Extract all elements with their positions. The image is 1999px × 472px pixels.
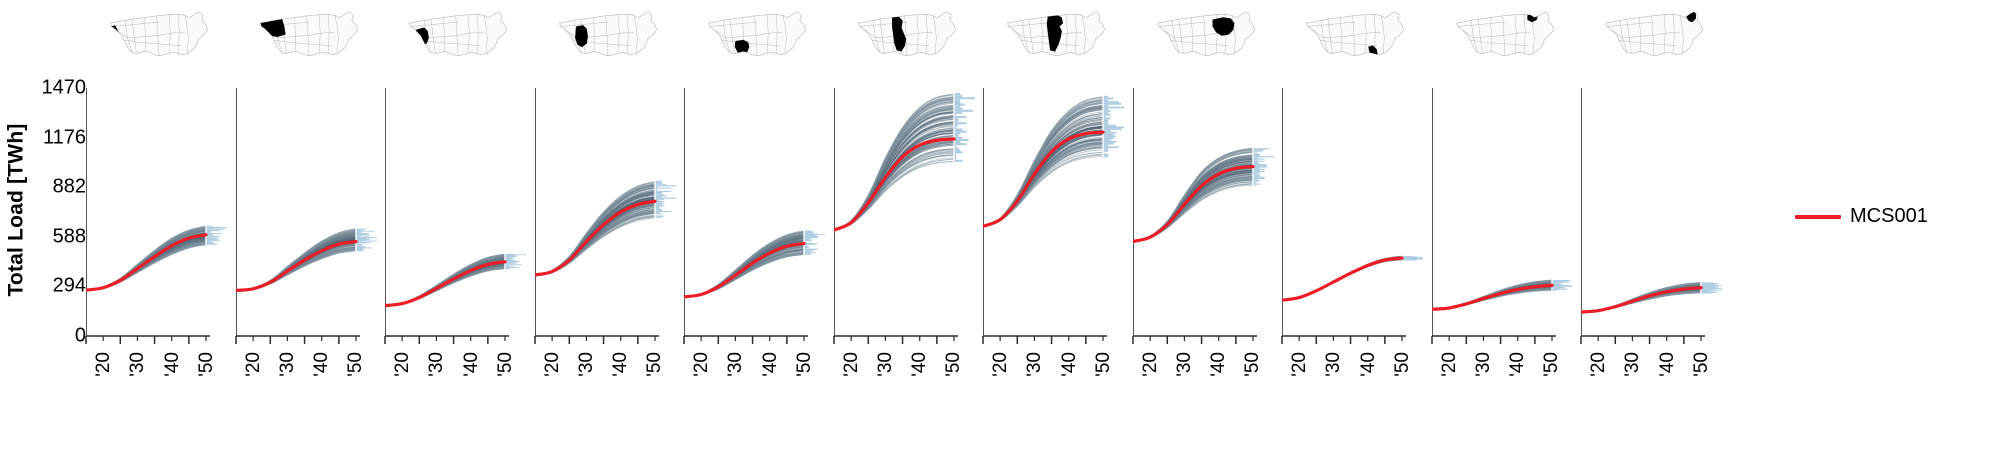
x-axis-nyiso <box>1432 336 1578 350</box>
y-tick-label: 294 <box>53 275 86 298</box>
x-tick-label: '30 <box>1323 352 1345 377</box>
mc-trajectory-fan <box>236 229 356 291</box>
histogram-bar <box>1253 179 1258 180</box>
mcs001-trajectory <box>1282 258 1402 300</box>
x-tick-label: '50 <box>1093 352 1115 377</box>
histogram-bar <box>655 211 671 212</box>
x-tick-label: '20 <box>392 352 414 377</box>
histogram-bar <box>954 97 975 99</box>
histogram-bar <box>1253 155 1260 156</box>
x-tick-label: '50 <box>495 352 517 377</box>
x-tick-label: '20 <box>542 352 564 377</box>
plot-area-pjm <box>1133 88 1279 336</box>
histogram-bar <box>1253 164 1267 165</box>
x-axis-wecc-basin <box>385 336 531 350</box>
histogram-bar <box>1253 176 1260 177</box>
mc-trajectory <box>684 254 804 297</box>
histogram-bar <box>954 149 960 151</box>
plot-area-frcc <box>1282 88 1428 336</box>
histogram-bar <box>1103 150 1108 152</box>
mc-trajectory <box>86 244 206 290</box>
mc-trajectory <box>684 255 804 297</box>
histogram-bar <box>1103 134 1114 136</box>
x-axis-ercot <box>684 336 830 350</box>
us-map-outline <box>1307 12 1404 56</box>
x-axis-tick-labels: '20'30'40'50 <box>1133 352 1279 412</box>
terminal-histogram <box>804 230 825 256</box>
mc-trajectory <box>1282 259 1402 300</box>
histogram-bar <box>1103 110 1111 112</box>
histogram-bar <box>655 217 662 218</box>
panel-spp: '20'30'40'50 <box>834 0 980 472</box>
x-tick-label: '20 <box>93 352 115 377</box>
x-tick-label: '50 <box>345 352 367 377</box>
mc-trajectory <box>1282 259 1402 301</box>
us-map-outline <box>1456 12 1553 56</box>
mc-trajectory <box>1282 259 1402 300</box>
histogram-bar <box>954 108 962 110</box>
histogram-bar <box>1103 155 1108 157</box>
histogram-bar <box>1103 126 1124 128</box>
x-tick-label: '50 <box>1242 352 1264 377</box>
x-axis-tick-labels: '20'30'40'50 <box>86 352 232 412</box>
histogram-bar <box>655 210 662 211</box>
x-tick-label: '30 <box>1473 352 1495 377</box>
histogram-bar <box>655 188 671 189</box>
histogram-bar <box>1103 107 1124 109</box>
histogram-bar <box>655 185 676 186</box>
map-inset-frcc <box>1282 4 1428 66</box>
mc-trajectory <box>385 266 505 305</box>
mc-trajectory <box>1282 259 1402 300</box>
histogram-bar <box>655 193 662 194</box>
mc-trajectory <box>1282 259 1402 300</box>
histogram-bar <box>1103 139 1111 141</box>
y-tick-label: 882 <box>53 176 86 199</box>
x-axis-nwpp <box>236 336 382 350</box>
panel-ercot: '20'30'40'50 <box>684 0 830 472</box>
mc-trajectory <box>1282 259 1402 300</box>
y-tick-label: 0 <box>75 325 86 348</box>
x-tick-label: '40 <box>311 352 333 377</box>
legend-label-mcs001: MCS001 <box>1850 205 1928 228</box>
histogram-bar <box>1253 177 1265 178</box>
x-tick-label: '50 <box>1392 352 1414 377</box>
mc-trajectory <box>1282 259 1402 300</box>
terminal-histogram <box>206 225 227 246</box>
histogram-bar <box>954 93 960 95</box>
histogram-bar <box>1103 119 1108 121</box>
mc-trajectory <box>1282 259 1402 301</box>
map-inset-nwpp <box>236 4 382 66</box>
histogram-bar <box>655 199 664 200</box>
histogram-bar <box>1253 171 1265 172</box>
histogram-bar <box>1103 98 1114 100</box>
mc-trajectory <box>834 150 954 230</box>
histogram-bar <box>1103 143 1114 145</box>
mc-trajectory <box>1282 259 1402 300</box>
histogram-bar <box>655 191 671 192</box>
histogram-bar <box>804 230 811 231</box>
mc-trajectory <box>1282 259 1402 300</box>
x-tick-label: '50 <box>1541 352 1563 377</box>
terminal-histogram <box>1253 147 1274 186</box>
panel-wecc-basin: '20'30'40'50 <box>385 0 531 472</box>
histogram-bar <box>1103 105 1108 107</box>
us-map-highlight-wecc-sw <box>575 25 587 46</box>
plot-area-ercot <box>684 88 830 336</box>
histogram-bar <box>1103 128 1121 130</box>
x-axis-miso <box>983 336 1129 350</box>
x-axis-wecc-sw <box>535 336 681 350</box>
terminal-histogram <box>356 228 377 252</box>
histogram-bar <box>954 95 962 97</box>
histogram-bar <box>655 181 662 182</box>
us-map-outline <box>1157 12 1254 56</box>
histogram-bar <box>954 131 967 133</box>
mc-trajectory <box>1282 259 1402 300</box>
plot-area-miso <box>983 88 1129 336</box>
map-inset-nyiso <box>1432 4 1578 66</box>
x-axis-tick-labels: '20'30'40'50 <box>684 352 830 412</box>
plot-area-nwpp <box>236 88 382 336</box>
figure-root: Total Load [TWh] 029458888211761470 '20'… <box>0 0 1999 472</box>
mc-trajectory <box>236 250 356 290</box>
mc-trajectory <box>1282 259 1402 300</box>
plot-area-nyiso <box>1432 88 1578 336</box>
histogram-bar <box>505 254 513 255</box>
histogram-bar <box>655 194 664 195</box>
histogram-bar <box>954 99 960 101</box>
x-tick-label: '40 <box>760 352 782 377</box>
x-tick-label: '30 <box>426 352 448 377</box>
histogram-bar <box>1253 154 1260 155</box>
mc-trajectory <box>1282 259 1402 300</box>
terminal-histogram <box>655 181 676 219</box>
histogram-bar <box>1103 145 1108 147</box>
mc-trajectory-fan <box>86 226 206 290</box>
x-tick-label: '30 <box>576 352 598 377</box>
x-tick-label: '20 <box>841 352 863 377</box>
x-tick-label: '50 <box>943 352 965 377</box>
histogram-bar <box>655 195 667 196</box>
mc-trajectory <box>1282 260 1402 301</box>
x-tick-label: '40 <box>461 352 483 377</box>
mc-trajectory <box>1282 260 1402 301</box>
mc-trajectory <box>1282 259 1402 300</box>
x-axis-pjm <box>1133 336 1279 350</box>
histogram-bar <box>1253 166 1267 167</box>
mc-trajectory <box>1282 259 1402 301</box>
mc-trajectory-fan <box>535 181 655 274</box>
mc-trajectory <box>684 254 804 297</box>
histogram-bar <box>1103 148 1108 150</box>
histogram-bar <box>1103 114 1111 116</box>
plot-area-wecc-sw <box>535 88 681 336</box>
mc-trajectory <box>1282 259 1402 300</box>
histogram-bar <box>1103 146 1119 148</box>
histogram-bar <box>954 143 967 145</box>
us-map-outline <box>709 12 806 56</box>
map-inset-miso <box>983 4 1129 66</box>
histogram-bar <box>954 139 969 141</box>
histogram-bar <box>655 208 660 209</box>
histogram-bar <box>1103 137 1114 139</box>
panel-miso: '20'30'40'50 <box>983 0 1129 472</box>
histogram-bar <box>954 160 962 162</box>
x-tick-label: '40 <box>610 352 632 377</box>
histogram-bar <box>1253 165 1267 166</box>
mc-trajectory-fan <box>385 254 505 306</box>
x-tick-label: '30 <box>725 352 747 377</box>
histogram-bar <box>1253 174 1260 175</box>
legend: MCS001 <box>1795 205 1928 228</box>
x-axis-tick-labels: '20'30'40'50 <box>1282 352 1428 412</box>
histogram-bar <box>1552 280 1570 281</box>
us-map-highlight-wecc-basin <box>416 28 428 45</box>
histogram-bar <box>655 213 662 214</box>
histogram-bar <box>1253 169 1265 170</box>
histogram-bar <box>1103 108 1108 110</box>
mc-trajectory <box>1282 259 1402 301</box>
terminal-histogram <box>1402 256 1423 261</box>
x-tick-label: '40 <box>162 352 184 377</box>
histogram-bar <box>655 183 662 184</box>
x-tick-label: '40 <box>1657 352 1679 377</box>
histogram-bar <box>655 198 676 199</box>
y-tick-label: 1176 <box>43 126 86 149</box>
plot-area-caiso <box>86 88 232 336</box>
histogram-bar <box>954 141 960 143</box>
terminal-histogram <box>954 93 975 164</box>
x-tick-label: '50 <box>196 352 218 377</box>
x-tick-label: '40 <box>909 352 931 377</box>
histogram-bar <box>1253 148 1269 149</box>
us-map-highlight-nwpp <box>260 19 285 36</box>
mc-trajectory <box>1282 259 1402 300</box>
mc-trajectory <box>1282 260 1402 301</box>
mc-trajectory <box>1282 259 1402 300</box>
histogram-bar <box>1253 149 1265 150</box>
mc-trajectory <box>1282 259 1402 301</box>
histogram-bar <box>1253 158 1265 159</box>
histogram-bar <box>1253 172 1260 173</box>
panel-nwpp: '20'30'40'50 <box>236 0 382 472</box>
x-tick-label: '30 <box>875 352 897 377</box>
mc-trajectory <box>1282 259 1402 301</box>
histogram-bar <box>1402 256 1411 257</box>
terminal-histogram <box>1103 96 1124 157</box>
histogram-bar <box>954 106 960 108</box>
x-tick-label: '20 <box>990 352 1012 377</box>
x-axis-tick-labels: '20'30'40'50 <box>385 352 531 412</box>
y-axis-title: Total Load [TWh] <box>2 80 32 340</box>
histogram-bar <box>954 122 967 124</box>
mc-trajectory-fan <box>834 94 954 230</box>
map-inset-wecc-sw <box>535 4 681 66</box>
histogram-bar <box>954 128 962 130</box>
panel-pjm: '20'30'40'50 <box>1133 0 1279 472</box>
histogram-bar <box>1253 184 1260 185</box>
x-axis-spp <box>834 336 980 350</box>
x-axis-frcc <box>1282 336 1428 350</box>
x-tick-label: '40 <box>1208 352 1230 377</box>
x-tick-label: '30 <box>127 352 149 377</box>
y-tick-label: 1470 <box>42 77 87 100</box>
x-tick-label: '30 <box>1174 352 1196 377</box>
histogram-bar <box>954 103 965 105</box>
histogram-bar <box>1253 173 1258 174</box>
histogram-bar <box>206 226 213 227</box>
mc-trajectory <box>1282 260 1402 301</box>
mc-trajectory <box>1282 259 1402 300</box>
histogram-bar <box>1253 157 1258 158</box>
mc-trajectory <box>1282 259 1402 300</box>
mc-trajectory <box>1282 259 1402 300</box>
histogram-bar <box>1103 99 1108 101</box>
histogram-bar <box>655 209 662 210</box>
panel-isone: '20'30'40'50 <box>1581 0 1727 472</box>
mc-trajectory <box>236 248 356 291</box>
map-inset-wecc-basin <box>385 4 531 66</box>
x-tick-label: '50 <box>644 352 666 377</box>
panel-caiso: '20'30'40'50 <box>86 0 232 472</box>
map-inset-ercot <box>684 4 830 66</box>
x-tick-label: '30 <box>1024 352 1046 377</box>
x-tick-label: '50 <box>1691 352 1713 377</box>
x-tick-label: '20 <box>243 352 265 377</box>
histogram-bar <box>954 110 973 112</box>
x-axis-tick-labels: '20'30'40'50 <box>1581 352 1727 412</box>
x-axis-tick-labels: '20'30'40'50 <box>834 352 980 412</box>
histogram-bar <box>1253 180 1260 181</box>
x-tick-label: '20 <box>1588 352 1610 377</box>
mc-trajectory <box>1282 259 1402 300</box>
histogram-bar <box>1253 156 1274 157</box>
terminal-histogram <box>1552 280 1573 291</box>
histogram-bar <box>1253 163 1260 164</box>
histogram-bar <box>655 203 664 204</box>
x-axis-tick-labels: '20'30'40'50 <box>236 352 382 412</box>
histogram-bar <box>954 112 962 114</box>
histogram-bar <box>1103 121 1108 123</box>
mc-trajectory <box>1282 259 1402 301</box>
histogram-bar <box>655 192 662 193</box>
histogram-bar <box>954 133 960 135</box>
terminal-histogram <box>1701 282 1722 294</box>
histogram-bar <box>1103 154 1108 156</box>
histogram-bar <box>954 116 967 118</box>
histogram-bar <box>1253 160 1258 161</box>
histogram-bar <box>1103 117 1111 119</box>
histogram-bar <box>1103 103 1121 105</box>
mc-trajectory <box>1282 259 1402 300</box>
histogram-bar <box>1103 96 1108 98</box>
mc-trajectory <box>1282 260 1402 301</box>
histogram-bar <box>1103 125 1116 127</box>
histogram-bar <box>1253 150 1262 151</box>
histogram-bar <box>1103 141 1116 143</box>
mc-trajectory <box>1282 259 1402 300</box>
mc-trajectory <box>1282 259 1402 300</box>
histogram-bar <box>1103 132 1116 134</box>
map-inset-isone <box>1581 4 1727 66</box>
mc-trajectory <box>1282 259 1402 301</box>
histogram-bar <box>1253 170 1260 171</box>
histogram-bar <box>206 227 227 228</box>
panel-frcc: '20'30'40'50 <box>1282 0 1428 472</box>
histogram-bar <box>1253 161 1265 162</box>
histogram-bar <box>655 205 664 206</box>
mc-trajectory <box>1282 259 1402 300</box>
panel-nyiso: '20'30'40'50 <box>1432 0 1578 472</box>
histogram-bar <box>954 101 960 103</box>
x-tick-label: '40 <box>1358 352 1380 377</box>
y-axis-title-text: Total Load [TWh] <box>5 123 29 296</box>
histogram-bar <box>505 264 522 265</box>
x-tick-label: '40 <box>1507 352 1529 377</box>
map-inset-spp <box>834 4 980 66</box>
histogram-bar <box>655 207 660 208</box>
x-tick-label: '20 <box>1289 352 1311 377</box>
mc-trajectory <box>1282 259 1402 300</box>
x-tick-label: '20 <box>1439 352 1461 377</box>
histogram-bar <box>1103 101 1119 103</box>
histogram-bar <box>356 237 377 238</box>
histogram-bar <box>1253 181 1258 182</box>
histogram-bar <box>655 196 662 197</box>
histogram-bar <box>655 212 660 213</box>
x-tick-label: '40 <box>1059 352 1081 377</box>
x-axis-tick-labels: '20'30'40'50 <box>1432 352 1578 412</box>
x-axis-isone <box>1581 336 1727 350</box>
histogram-bar <box>655 204 662 205</box>
x-tick-label: '30 <box>1622 352 1644 377</box>
y-tick-label: 588 <box>53 225 86 248</box>
histogram-bar <box>954 151 962 153</box>
us-map-outline <box>559 12 656 56</box>
histogram-bar <box>356 229 367 230</box>
mc-trajectory <box>1282 259 1402 301</box>
terminal-histogram <box>505 253 526 269</box>
plot-area-isone <box>1581 88 1727 336</box>
mc-trajectory <box>1282 259 1402 300</box>
legend-swatch-mcs001 <box>1795 215 1841 219</box>
mc-trajectory <box>1282 259 1402 301</box>
mc-trajectory <box>1282 260 1402 301</box>
x-tick-label: '20 <box>691 352 713 377</box>
histogram-bar <box>1103 112 1108 114</box>
mc-trajectory <box>385 268 505 305</box>
x-tick-label: '50 <box>794 352 816 377</box>
histogram-bar <box>1253 162 1258 163</box>
histogram-bar <box>1103 123 1108 125</box>
histogram-bar <box>655 182 662 183</box>
x-axis-tick-labels: '20'30'40'50 <box>535 352 681 412</box>
plot-area-spp <box>834 88 980 336</box>
histogram-bar <box>1253 178 1265 179</box>
x-tick-label: '30 <box>277 352 299 377</box>
us-map-outline <box>111 12 208 56</box>
y-axis-tick-labels: 029458888211761470 <box>30 88 86 336</box>
x-tick-label: '20 <box>1140 352 1162 377</box>
x-axis-caiso <box>86 336 232 350</box>
us-map-outline <box>858 12 955 56</box>
mc-trajectory <box>1282 259 1402 300</box>
histogram-bar <box>655 216 664 217</box>
mc-trajectory <box>1282 260 1402 301</box>
x-axis-tick-labels: '20'30'40'50 <box>983 352 1129 412</box>
